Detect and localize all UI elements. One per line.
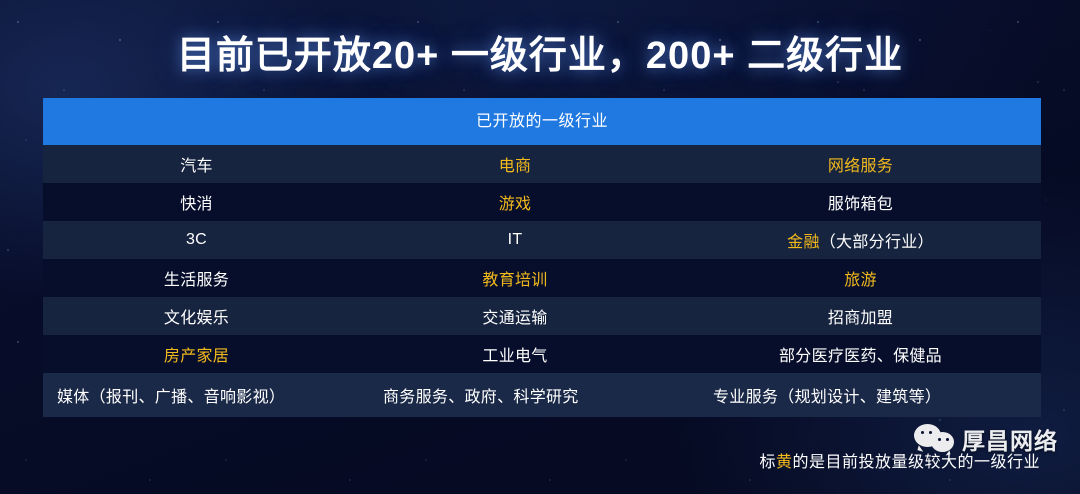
cell-text: 工业电气 [482, 348, 547, 365]
cell-text: 文化娱乐 [164, 310, 229, 327]
cell-text: IT [508, 231, 523, 248]
table-cell: 工业电气 [350, 342, 680, 366]
cell-text: 汽车 [180, 158, 213, 175]
watermark: 厚昌网络 [914, 422, 1058, 456]
cell-text: 教育培训 [482, 272, 547, 289]
table-row: 汽车电商网络服务 [43, 145, 1041, 183]
footnote-prefix: 标 [759, 454, 776, 471]
cell-text: 网络服务 [828, 158, 893, 175]
table-cell: 媒体（报刊、广播、音响影视） [43, 383, 373, 407]
table-row: 生活服务教育培训旅游 [43, 259, 1041, 297]
cell-text: 服饰箱包 [828, 196, 893, 213]
cell-text: 招商加盟 [828, 310, 893, 327]
cell-text: 电商 [499, 158, 532, 175]
table-cell: 旅游 [680, 266, 1041, 290]
table-row: 3CIT金融（大部分行业） [43, 221, 1041, 259]
table-row-wide: 媒体（报刊、广播、音响影视） 商务服务、政府、科学研究 专业服务（规划设计、建筑… [43, 373, 1041, 417]
table-cell: 网络服务 [680, 152, 1041, 176]
table-cell: 快消 [43, 190, 350, 214]
table-cell: 金融（大部分行业） [680, 228, 1041, 252]
table-row: 文化娱乐交通运输招商加盟 [43, 297, 1041, 335]
cell-text: 部分医疗医药、保健品 [779, 348, 942, 365]
cell-text: 金融 [787, 234, 820, 251]
cell-text: 游戏 [499, 196, 532, 213]
cell-text: 快消 [180, 196, 213, 213]
cell-suffix: （大部分行业） [820, 234, 934, 251]
watermark-label: 厚昌网络 [962, 422, 1058, 456]
table-cell: IT [350, 231, 680, 249]
table-row: 房产家居工业电气部分医疗医药、保健品 [43, 335, 1041, 373]
slide-canvas: 目前已开放20+ 一级行业，200+ 二级行业 已开放的一级行业 汽车电商网络服… [0, 0, 1080, 494]
table-cell: 服饰箱包 [680, 190, 1041, 214]
table-row: 快消游戏服饰箱包 [43, 183, 1041, 221]
cell-text: 交通运输 [482, 310, 547, 327]
table-body: 汽车电商网络服务快消游戏服饰箱包3CIT金融（大部分行业）生活服务教育培训旅游文… [43, 145, 1041, 373]
cell-text: 旅游 [844, 272, 877, 289]
table-cell: 交通运输 [350, 304, 680, 328]
table-header: 已开放的一级行业 [43, 98, 1041, 145]
table-cell: 游戏 [350, 190, 680, 214]
industry-table: 已开放的一级行业 汽车电商网络服务快消游戏服饰箱包3CIT金融（大部分行业）生活… [43, 98, 1041, 417]
footnote-suffix: 的是目前投放量级较大的一级行业 [792, 454, 1040, 471]
footnote-highlight-word: 黄 [776, 454, 793, 471]
table-cell: 教育培训 [350, 266, 680, 290]
table-cell: 招商加盟 [680, 304, 1041, 328]
table-cell: 3C [43, 231, 350, 249]
table-cell: 电商 [350, 152, 680, 176]
table-cell: 文化娱乐 [43, 304, 350, 328]
cell-text: 3C [186, 231, 207, 248]
table-cell: 部分医疗医药、保健品 [680, 342, 1041, 366]
wechat-icon [914, 422, 954, 456]
table-cell: 汽车 [43, 152, 350, 176]
cell-text: 生活服务 [164, 272, 229, 289]
table-cell: 专业服务（规划设计、建筑等） [703, 383, 1041, 407]
page-title: 目前已开放20+ 一级行业，200+ 二级行业 [0, 24, 1080, 79]
table-cell: 房产家居 [43, 342, 350, 366]
cell-text: 房产家居 [164, 348, 229, 365]
table-cell: 商务服务、政府、科学研究 [373, 383, 703, 407]
table-cell: 生活服务 [43, 266, 350, 290]
